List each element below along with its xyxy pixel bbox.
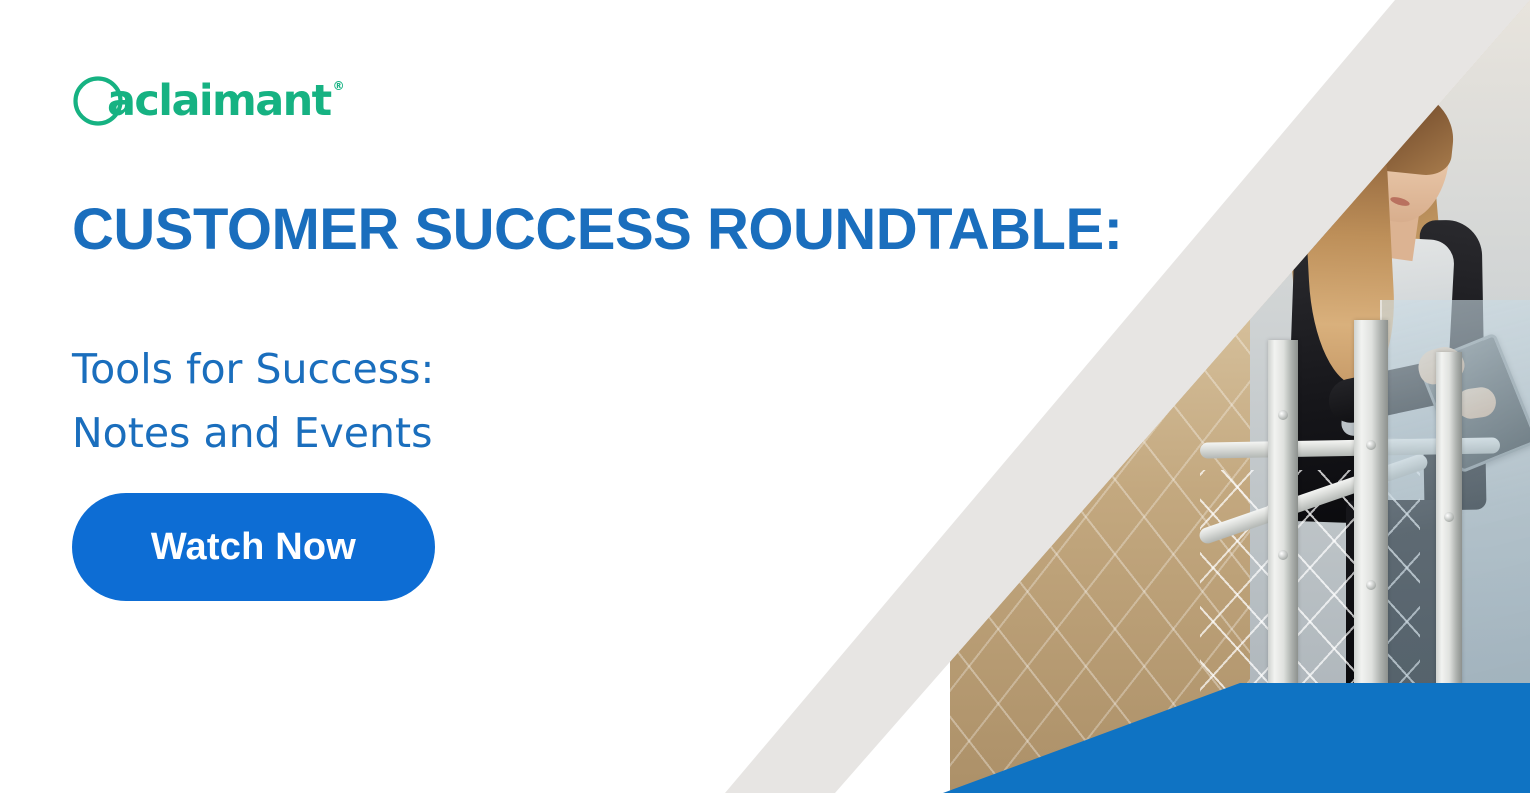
trademark-symbol: ® [333,75,345,97]
content-column: aclaimant ® CUSTOMER SUCCESS ROUNDTABLE:… [72,0,1192,793]
bolt-icon [1366,440,1376,450]
page-subtitle: Tools for Success: Notes and Events [72,338,772,465]
brand-logo[interactable]: aclaimant ® [72,75,345,131]
bolt-icon [1366,580,1376,590]
bolt-icon [1278,410,1288,420]
brand-wordmark: aclaimant [107,75,331,127]
subtitle-line-1: Tools for Success: [72,338,772,402]
page-title: CUSTOMER SUCCESS ROUNDTABLE: [72,200,1192,261]
promo-banner: aclaimant ® CUSTOMER SUCCESS ROUNDTABLE:… [0,0,1530,793]
bolt-icon [1278,550,1288,560]
subtitle-line-2: Notes and Events [72,402,772,466]
watch-now-button[interactable]: Watch Now [72,493,435,601]
bolt-icon [1444,512,1454,522]
circled-a-mark-icon [72,75,124,127]
